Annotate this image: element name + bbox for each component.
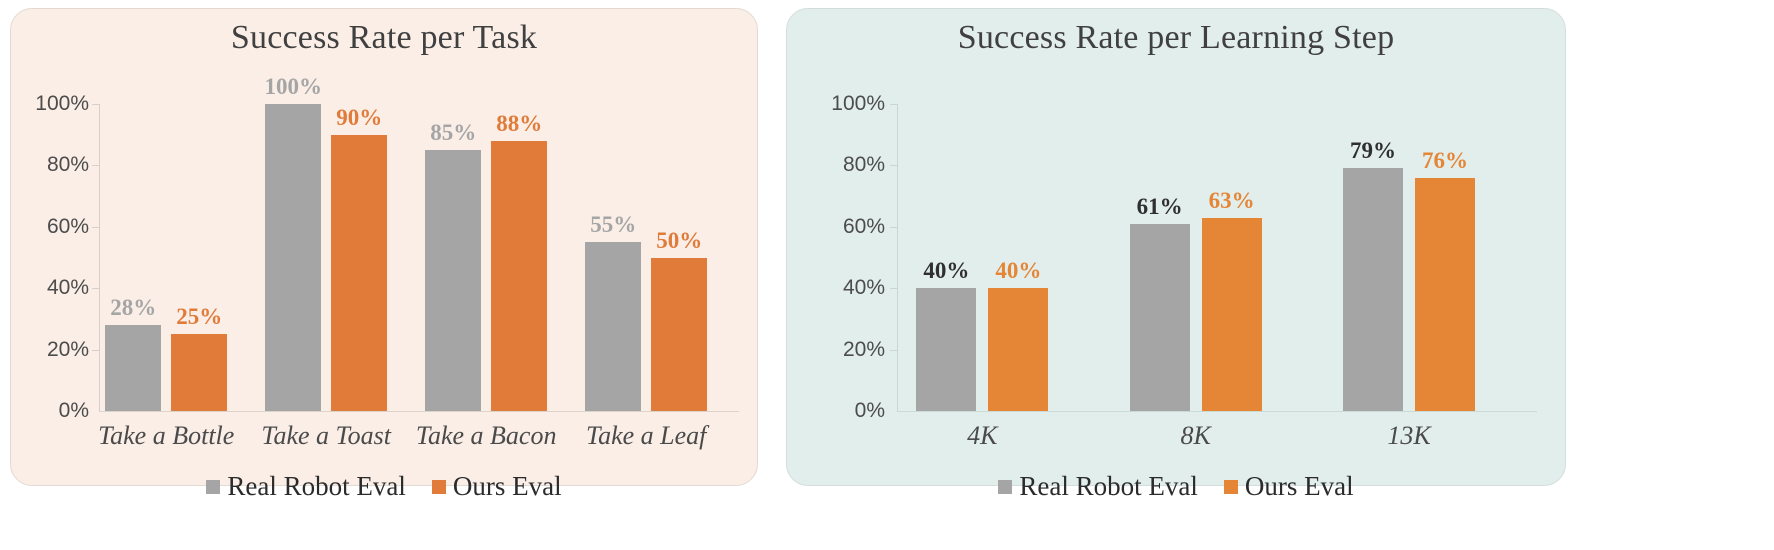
bar-ours-eval [491,141,547,411]
figure-root: Success Rate per Task 0%20%40%60%80%100%… [0,0,1774,550]
x-axis-line-right [897,411,1537,412]
y-axis-line-left [99,104,100,411]
bar-value-label: 88% [496,111,542,137]
y-axis-labels-right: 0%20%40%60%80%100% [815,104,885,411]
x-axis-category-label: 8K [1180,421,1210,451]
legend-swatch-icon [1224,480,1238,494]
bar-value-label: 50% [656,228,702,254]
bar-value-label: 79% [1350,138,1396,164]
y-axis-tick-mark [890,227,897,228]
bar-ours-eval [171,334,227,411]
bar-value-label: 76% [1422,148,1468,174]
y-axis-tick-label: 40% [843,276,885,300]
x-axis-category-label: Take a Leaf [586,421,706,451]
y-axis-line-right [897,104,898,411]
y-axis-tick-label: 0% [855,399,885,423]
bar-real-robot-eval [1343,168,1403,411]
y-axis-labels-left: 0%20%40%60%80%100% [19,104,89,411]
y-axis-tick-label: 80% [47,153,89,177]
bar-ours-eval [651,258,707,412]
bar-value-label: 40% [923,258,969,284]
legend-label: Ours Eval [1245,471,1354,502]
bar-value-label: 61% [1137,194,1183,220]
bar-value-label: 63% [1209,188,1255,214]
x-axis-category-label: 4K [967,421,997,451]
chart-panel-success-rate-per-learning-step: Success Rate per Learning Step 0%20%40%6… [786,8,1566,486]
bar-real-robot-eval [265,104,321,411]
y-axis-tick-label: 60% [843,215,885,239]
x-axis-category-label: 13K [1387,421,1430,451]
y-axis-tick-mark [890,350,897,351]
legend-swatch-icon [206,480,220,494]
x-axis-category-label: Take a Bottle [98,421,234,451]
bar-real-robot-eval [425,150,481,411]
legend-right: Real Robot EvalOurs Eval [787,471,1565,502]
y-axis-tick-label: 80% [843,153,885,177]
y-axis-tick-mark [890,288,897,289]
x-axis-category-label: Take a Toast [261,421,391,451]
page-title-right: Success Rate per Learning Step [787,19,1565,57]
legend-left: Real Robot EvalOurs Eval [11,471,757,502]
plot-area-right: 40%40%61%63%79%76% [897,104,1537,411]
y-axis-tick-mark [92,288,99,289]
y-axis-tick-label: 40% [47,276,89,300]
bar-value-label: 28% [110,295,156,321]
y-axis-tick-label: 20% [843,338,885,362]
bar-real-robot-eval [1130,224,1190,411]
page-title-left: Success Rate per Task [11,19,757,57]
y-axis-tick-mark [92,165,99,166]
bar-value-label: 40% [995,258,1041,284]
chart-panel-success-rate-per-task: Success Rate per Task 0%20%40%60%80%100%… [10,8,758,486]
y-axis-tick-mark [92,350,99,351]
y-axis-tick-label: 0% [59,399,89,423]
y-axis-tick-label: 100% [35,92,89,116]
y-axis-tick-mark [890,165,897,166]
legend-label: Real Robot Eval [227,471,405,502]
plot-area-left: 28%25%100%90%85%88%55%50% [99,104,739,411]
bar-ours-eval [1202,218,1262,411]
legend-swatch-icon [432,480,446,494]
bar-real-robot-eval [585,242,641,411]
legend-swatch-icon [998,480,1012,494]
bar-ours-eval [988,288,1048,411]
legend-label: Ours Eval [453,471,562,502]
legend-item-real-robot-eval[interactable]: Real Robot Eval [206,471,405,502]
legend-label: Real Robot Eval [1019,471,1197,502]
bar-value-label: 55% [590,212,636,238]
x-axis-line-left [99,411,739,412]
bar-ours-eval [331,135,387,411]
y-axis-tick-label: 20% [47,338,89,362]
y-axis-tick-mark [890,104,897,105]
y-axis-tick-label: 60% [47,215,89,239]
bar-real-robot-eval [916,288,976,411]
bar-value-label: 25% [176,304,222,330]
legend-item-ours-eval[interactable]: Ours Eval [1224,471,1354,502]
bar-value-label: 100% [264,74,322,100]
y-axis-tick-mark [92,227,99,228]
y-axis-tick-mark [92,104,99,105]
bar-ours-eval [1415,178,1475,411]
x-axis-category-label: Take a Bacon [416,421,557,451]
bar-real-robot-eval [105,325,161,411]
legend-item-real-robot-eval[interactable]: Real Robot Eval [998,471,1197,502]
legend-item-ours-eval[interactable]: Ours Eval [432,471,562,502]
y-axis-tick-label: 100% [831,92,885,116]
bar-value-label: 90% [336,105,382,131]
bar-value-label: 85% [430,120,476,146]
